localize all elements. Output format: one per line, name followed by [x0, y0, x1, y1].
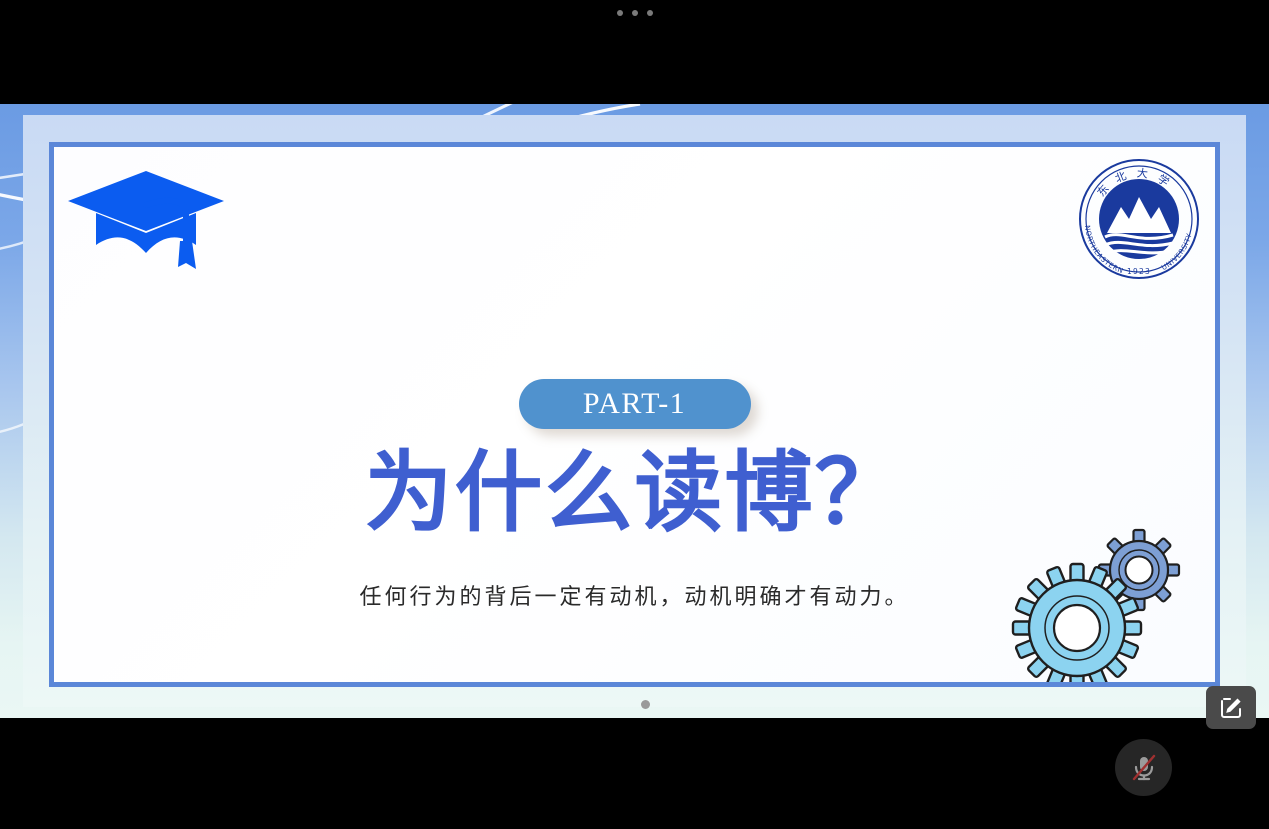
part-badge: PART-1 — [519, 379, 751, 429]
slide-content: 东 北 大 学 NORTHEASTERN UNIVERSITY 1923 PAR… — [54, 147, 1215, 682]
handle-dot-2 — [632, 10, 638, 16]
page-title: 为什么读博？ — [54, 447, 1215, 539]
slide-page-dot[interactable] — [641, 700, 650, 709]
gears-icon — [1011, 528, 1201, 682]
graduation-cap-icon — [66, 165, 226, 273]
more-options-handle[interactable] — [0, 0, 1269, 26]
annotate-button[interactable] — [1206, 686, 1256, 729]
pencil-box-icon — [1218, 695, 1244, 721]
svg-text:1923: 1923 — [1127, 267, 1151, 276]
slide-stage[interactable]: 东 北 大 学 NORTHEASTERN UNIVERSITY 1923 PAR… — [0, 104, 1269, 718]
handle-dot-3 — [647, 10, 653, 16]
presentation-screen: 东 北 大 学 NORTHEASTERN UNIVERSITY 1923 PAR… — [0, 0, 1269, 829]
microphone-button[interactable] — [1115, 739, 1172, 796]
northeastern-university-logo: 东 北 大 学 NORTHEASTERN UNIVERSITY 1923 — [1077, 157, 1201, 281]
microphone-muted-icon — [1128, 752, 1160, 784]
part-badge-label: PART-1 — [583, 389, 686, 419]
handle-dot-1 — [617, 10, 623, 16]
